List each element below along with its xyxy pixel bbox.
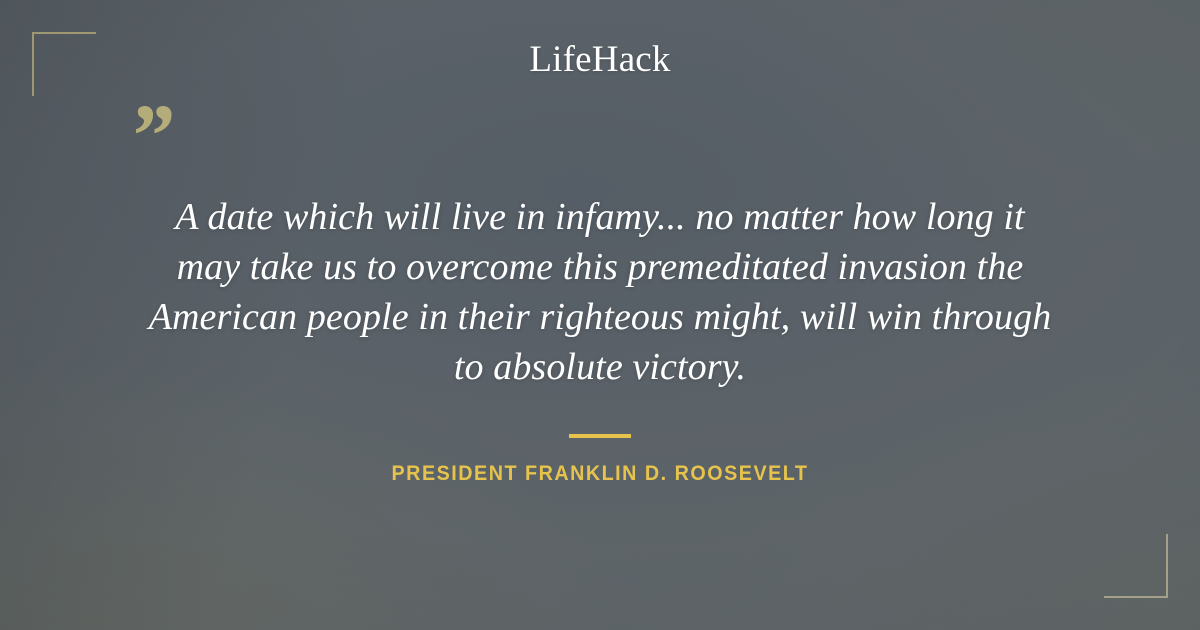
quote-text: A date which will live in infamy... no m… xyxy=(90,192,1110,392)
gold-divider-rule xyxy=(569,434,631,438)
corner-bracket-bottom-right-icon xyxy=(1104,534,1168,598)
quotation-mark-icon: ” xyxy=(128,92,173,182)
quote-attribution: PRESIDENT FRANKLIN D. ROOSEVELT xyxy=(36,462,1164,486)
quote-line: A date which will live in infamy... no m… xyxy=(90,192,1110,242)
quote-line: may take us to overcome this premeditate… xyxy=(90,242,1110,292)
quote-line: American people in their righteous might… xyxy=(90,292,1110,342)
brand-logo: LifeHack xyxy=(0,38,1200,81)
quote-line: to absolute victory. xyxy=(90,342,1110,392)
quote-card: LifeHack ” A date which will live in inf… xyxy=(0,0,1200,630)
